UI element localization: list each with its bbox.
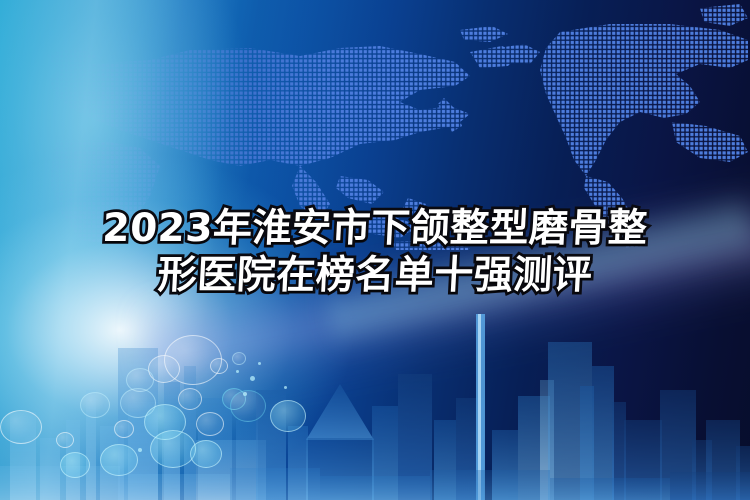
banner-title: 2023年淮安市下颌整型磨骨整 形医院在榜名单十强测评 [0,205,750,299]
bubble [150,430,196,468]
bubble [100,444,138,476]
bubble [178,388,202,410]
bubble-dot [250,376,255,381]
title-line-2: 形医院在榜名单十强测评 [0,252,750,299]
bubble [114,420,134,438]
bubble [270,400,306,432]
bubble [196,412,224,436]
bubble [232,352,246,365]
bubble [56,432,74,448]
bubble-dot [258,362,261,365]
bubble-dot [138,448,142,452]
bubble-dot [236,370,239,373]
bubble [230,390,266,422]
bubble [210,358,228,374]
bubble [0,410,42,444]
bubble [190,440,222,468]
bubble [80,392,110,418]
promo-banner: 2023年淮安市下颌整型磨骨整 形医院在榜名单十强测评 [0,0,750,500]
bubble [60,452,90,478]
title-line-1: 2023年淮安市下颌整型磨骨整 [0,205,750,252]
bubble-dot [284,386,287,389]
